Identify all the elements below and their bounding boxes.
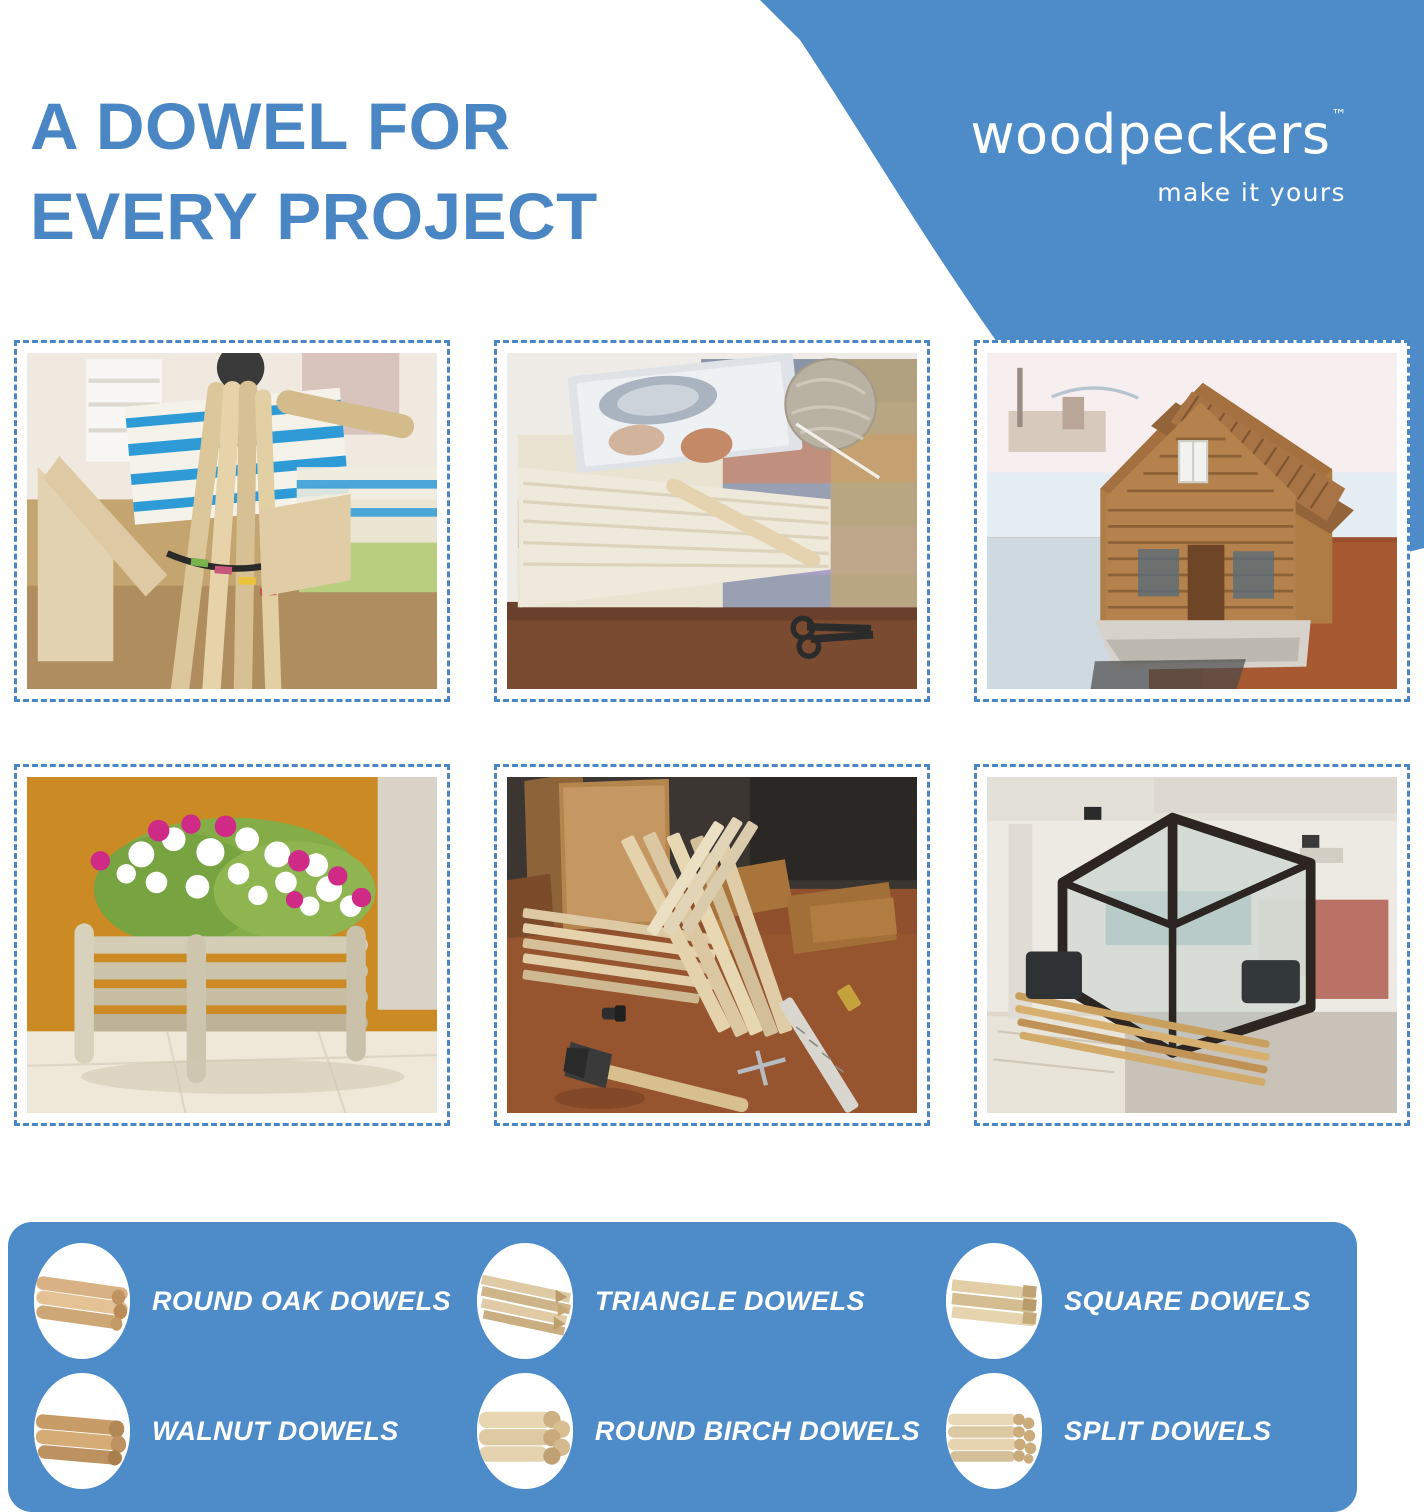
square-dowels-icon bbox=[946, 1243, 1042, 1359]
project-photo-grid bbox=[0, 340, 1424, 1126]
gallery-cell bbox=[494, 340, 930, 702]
dowel-type-item[interactable]: SPLIT DOWELS bbox=[920, 1373, 1357, 1489]
brand-logo: woodpeckers™ make it yours bbox=[970, 108, 1346, 207]
header-banner: A DOWEL FOR EVERY PROJECT woodpeckers™ m… bbox=[0, 0, 1424, 340]
round-birch-dowels-icon bbox=[477, 1373, 573, 1489]
dowel-type-item[interactable]: ROUND BIRCH DOWELS bbox=[451, 1373, 920, 1489]
triangle-dowels-icon bbox=[477, 1243, 573, 1359]
brand-tagline: make it yours bbox=[970, 178, 1346, 207]
round-oak-dowels-icon bbox=[34, 1243, 130, 1359]
dowel-types-panel: ROUND OAK DOWELS TRIAN bbox=[8, 1222, 1357, 1512]
dowel-type-label: ROUND OAK DOWELS bbox=[152, 1286, 451, 1317]
walnut-dowels-icon bbox=[34, 1373, 130, 1489]
dowel-type-label: TRIANGLE DOWELS bbox=[595, 1286, 865, 1317]
gallery-cell bbox=[14, 340, 450, 702]
headline-line-1: A DOWEL FOR bbox=[30, 82, 785, 172]
dowel-type-label: SQUARE DOWELS bbox=[1064, 1286, 1311, 1317]
split-dowels-icon bbox=[946, 1373, 1042, 1489]
dowel-type-label: WALNUT DOWELS bbox=[152, 1416, 399, 1447]
gallery-cell bbox=[14, 764, 450, 1126]
dowel-type-item[interactable]: WALNUT DOWELS bbox=[8, 1373, 451, 1489]
photo-weaving-loom bbox=[27, 353, 437, 689]
headline-line-2: EVERY PROJECT bbox=[30, 172, 785, 262]
brand-name-text: woodpeckers bbox=[970, 103, 1330, 166]
photo-planter-box bbox=[27, 777, 437, 1113]
photo-log-cabin-model bbox=[987, 353, 1397, 689]
gallery-cell bbox=[974, 764, 1410, 1126]
brand-name: woodpeckers™ bbox=[970, 108, 1346, 162]
trademark-icon: ™ bbox=[1332, 106, 1348, 124]
page-title: A DOWEL FOR EVERY PROJECT bbox=[30, 82, 770, 262]
dowel-types-grid: ROUND OAK DOWELS TRIAN bbox=[8, 1236, 1357, 1496]
dowel-type-label: ROUND BIRCH DOWELS bbox=[595, 1416, 920, 1447]
photo-dowel-stock bbox=[507, 777, 917, 1113]
photo-glass-cube bbox=[987, 777, 1397, 1113]
photo-hand-weaving bbox=[507, 353, 917, 689]
dowel-type-item[interactable]: ROUND OAK DOWELS bbox=[8, 1243, 451, 1359]
dowel-type-item[interactable]: SQUARE DOWELS bbox=[920, 1243, 1357, 1359]
dowel-type-item[interactable]: TRIANGLE DOWELS bbox=[451, 1243, 920, 1359]
gallery-cell bbox=[494, 764, 930, 1126]
gallery-cell bbox=[974, 340, 1410, 702]
dowel-type-label: SPLIT DOWELS bbox=[1064, 1416, 1271, 1447]
